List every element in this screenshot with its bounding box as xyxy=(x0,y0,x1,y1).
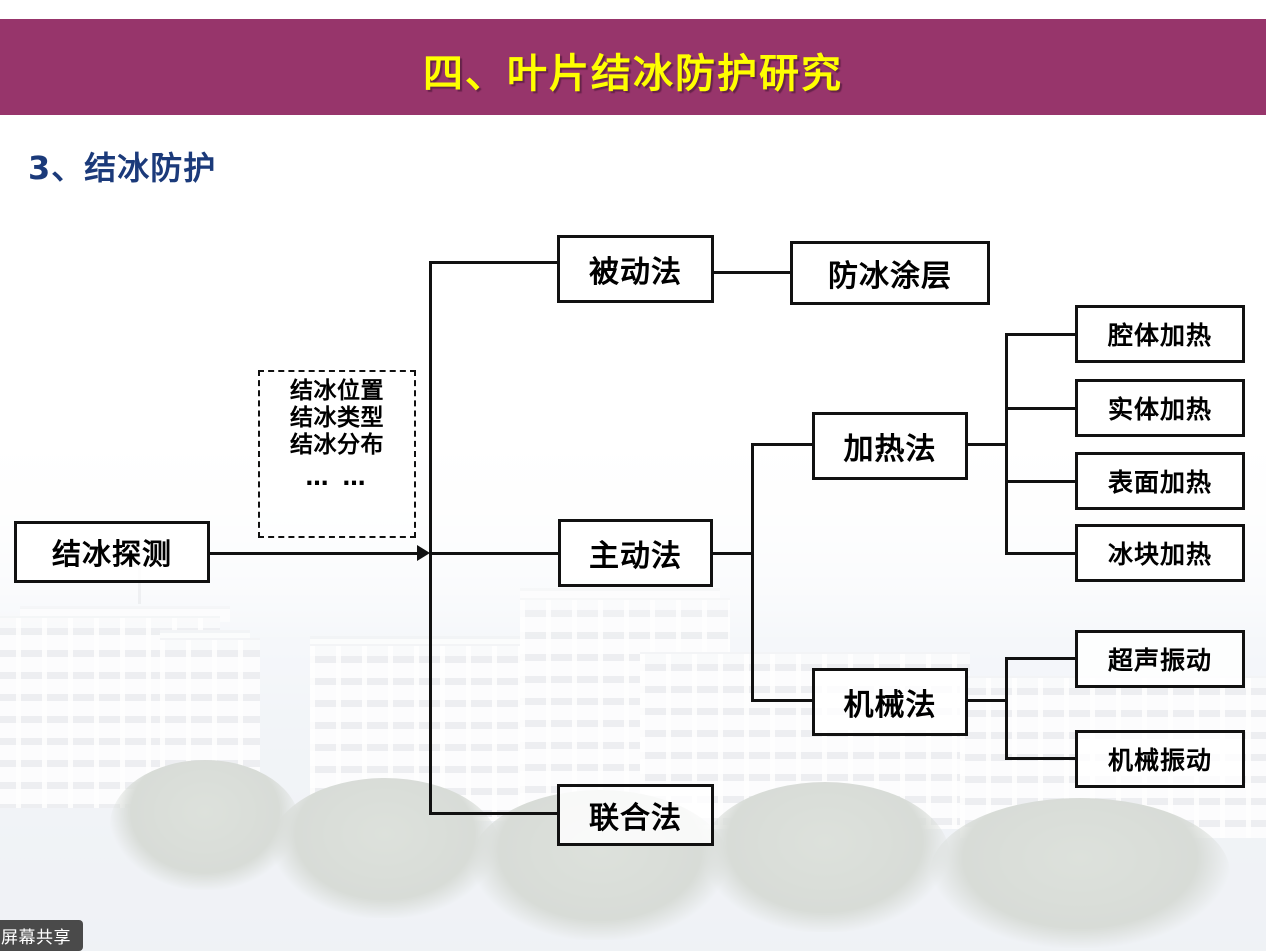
connector-passive-to-coating xyxy=(714,271,792,274)
node-surface-heating[interactable]: 表面加热 xyxy=(1075,452,1245,510)
connector-heating-to-cavity xyxy=(1005,333,1077,336)
connector-trunk-to-combined xyxy=(429,812,559,815)
connector-heating-to-bus xyxy=(968,443,1008,446)
node-label: 联合法 xyxy=(589,793,682,837)
connector-mechanical-to-bus xyxy=(968,699,1008,702)
note-line-1: 结冰位置 xyxy=(290,378,384,404)
node-cavity-heating[interactable]: 腔体加热 xyxy=(1075,305,1245,363)
node-ultrasonic-vibration[interactable]: 超声振动 xyxy=(1075,630,1245,688)
connector-heating-to-surface xyxy=(1005,480,1077,483)
node-label: 表面加热 xyxy=(1108,463,1212,499)
slide-canvas: 四、叶片结冰防护研究 3、结冰防护 结冰探测 结冰位置 结冰类型 结冰分布 … … xyxy=(0,0,1266,951)
active-split-bus xyxy=(751,443,754,702)
node-combined-method[interactable]: 联合法 xyxy=(557,784,714,846)
screen-share-toast-label: 电的屏幕共享 xyxy=(0,923,71,948)
node-label: 机械振动 xyxy=(1108,741,1212,777)
heating-children-bus xyxy=(1005,333,1008,553)
ice-detection-attributes-note: 结冰位置 结冰类型 结冰分布 … … xyxy=(258,370,416,538)
connector-mechanical-to-ultrasonic xyxy=(1005,657,1077,660)
node-label: 腔体加热 xyxy=(1108,316,1212,352)
node-label: 结冰探测 xyxy=(52,531,172,573)
node-label: 机械法 xyxy=(844,680,937,724)
connector-heating-to-solid xyxy=(1005,407,1077,410)
connector-mechanical-to-mechvib xyxy=(1005,757,1077,760)
note-line-2: 结冰类型 xyxy=(290,405,384,431)
ice-protection-tree-diagram: 结冰探测 结冰位置 结冰类型 结冰分布 … … 被动法 防冰涂层 主动法 xyxy=(0,0,1266,951)
node-heating-method[interactable]: 加热法 xyxy=(812,412,968,480)
screen-share-toast[interactable]: 电的屏幕共享 xyxy=(0,920,83,951)
node-label: 实体加热 xyxy=(1108,390,1212,426)
node-solid-heating[interactable]: 实体加热 xyxy=(1075,379,1245,437)
node-label: 防冰涂层 xyxy=(828,251,952,295)
connector-active-to-bus xyxy=(712,552,754,555)
connector-bus-to-heating xyxy=(751,443,815,446)
node-label: 被动法 xyxy=(589,247,682,291)
note-line-3: 结冰分布 xyxy=(290,432,384,458)
node-anti-icing-coating[interactable]: 防冰涂层 xyxy=(790,241,990,305)
connector-trunk-to-passive xyxy=(429,261,559,264)
node-ice-block-heating[interactable]: 冰块加热 xyxy=(1075,524,1245,582)
node-mechanical-vibration[interactable]: 机械振动 xyxy=(1075,730,1245,788)
node-passive-method[interactable]: 被动法 xyxy=(557,235,714,303)
connector-heating-to-iceblock xyxy=(1005,552,1077,555)
connector-trunk-to-active xyxy=(429,552,559,555)
node-label: 主动法 xyxy=(589,531,682,575)
node-label: 加热法 xyxy=(844,424,937,468)
trunk-vertical-line xyxy=(429,261,432,814)
node-label: 冰块加热 xyxy=(1108,535,1212,571)
note-ellipsis: … … xyxy=(260,465,414,492)
connector-root-to-trunk xyxy=(210,552,420,555)
node-active-method[interactable]: 主动法 xyxy=(558,519,713,587)
node-mechanical-method[interactable]: 机械法 xyxy=(812,668,968,736)
node-label: 超声振动 xyxy=(1108,641,1212,677)
connector-bus-to-mechanical xyxy=(751,699,815,702)
node-ice-detection[interactable]: 结冰探测 xyxy=(14,521,210,583)
mechanical-children-bus xyxy=(1005,657,1008,757)
